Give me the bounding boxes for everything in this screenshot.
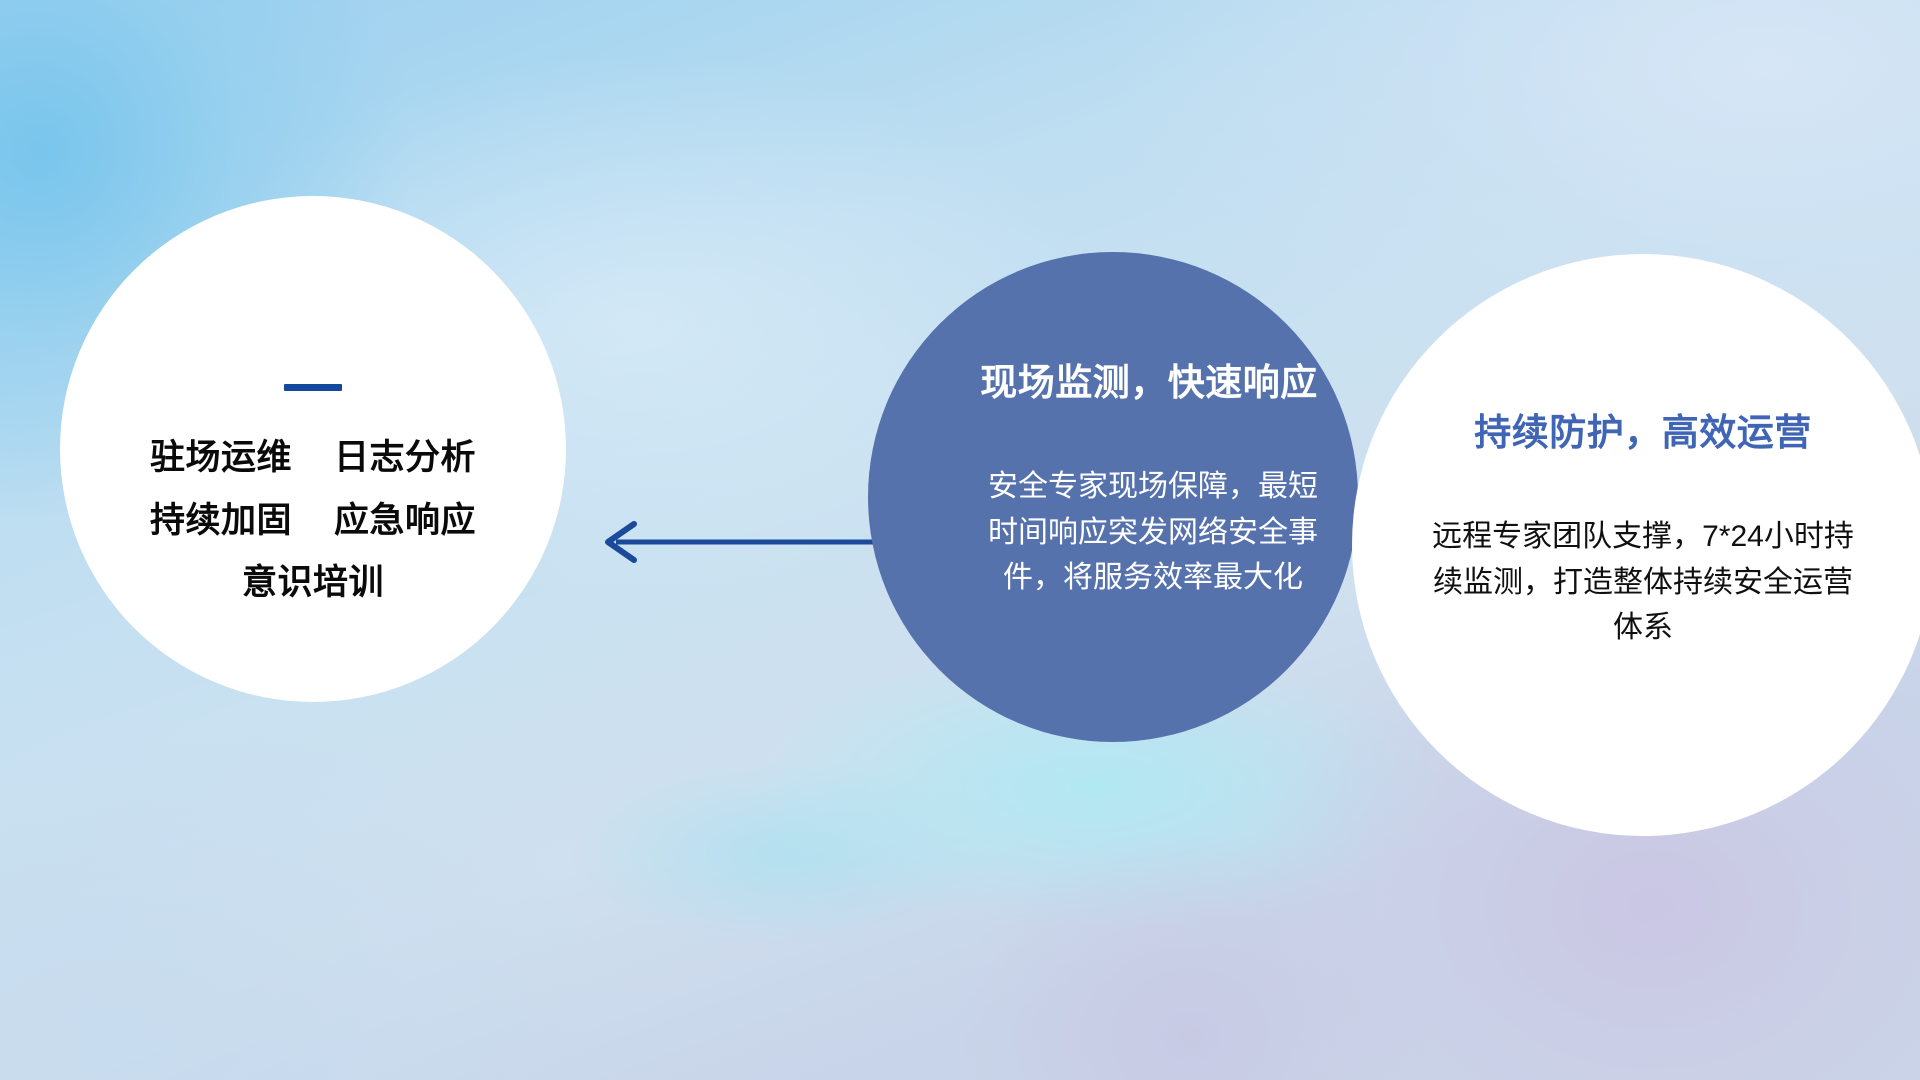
capability-tag-list: 驻场运维 日志分析 持续加固 应急响应 意识培训	[150, 439, 476, 603]
middle-circle-content: 现场监测，快速响应 安全专家现场保障，最短时间响应突发网络安全事件，将服务效率最…	[868, 252, 1358, 742]
flow-arrow-left-icon	[600, 518, 890, 566]
middle-circle-body: 安全专家现场保障，最短时间响应突发网络安全事件，将服务效率最大化	[988, 464, 1318, 601]
capability-tag: 驻场运维	[150, 439, 292, 478]
middle-circle-title: 现场监测，快速响应	[980, 352, 1318, 406]
capability-tag-row: 持续加固 应急响应	[150, 502, 476, 541]
right-circle-content: 持续防护，高效运营 远程专家团队支撑，7*24小时持续监测，打造整体持续安全运营…	[1352, 254, 1920, 836]
capability-tag-row: 驻场运维 日志分析	[150, 439, 476, 478]
left-circle-divider	[284, 384, 342, 391]
capability-tag: 日志分析	[334, 439, 476, 478]
left-circle-content: 驻场运维 日志分析 持续加固 应急响应 意识培训	[60, 196, 566, 702]
capability-tag: 应急响应	[334, 502, 476, 541]
capability-tag: 持续加固	[150, 502, 292, 541]
right-circle-title: 持续防护，高效运营	[1474, 402, 1812, 456]
right-circle-body: 远程专家团队支撑，7*24小时持续监测，打造整体持续安全运营体系	[1428, 514, 1858, 651]
slide-canvas: 驻场运维 日志分析 持续加固 应急响应 意识培训 现场监测，快速响应 安全专家现…	[0, 0, 1920, 1080]
capability-tag-row: 意识培训	[242, 564, 384, 603]
capability-tag: 意识培训	[242, 564, 384, 603]
